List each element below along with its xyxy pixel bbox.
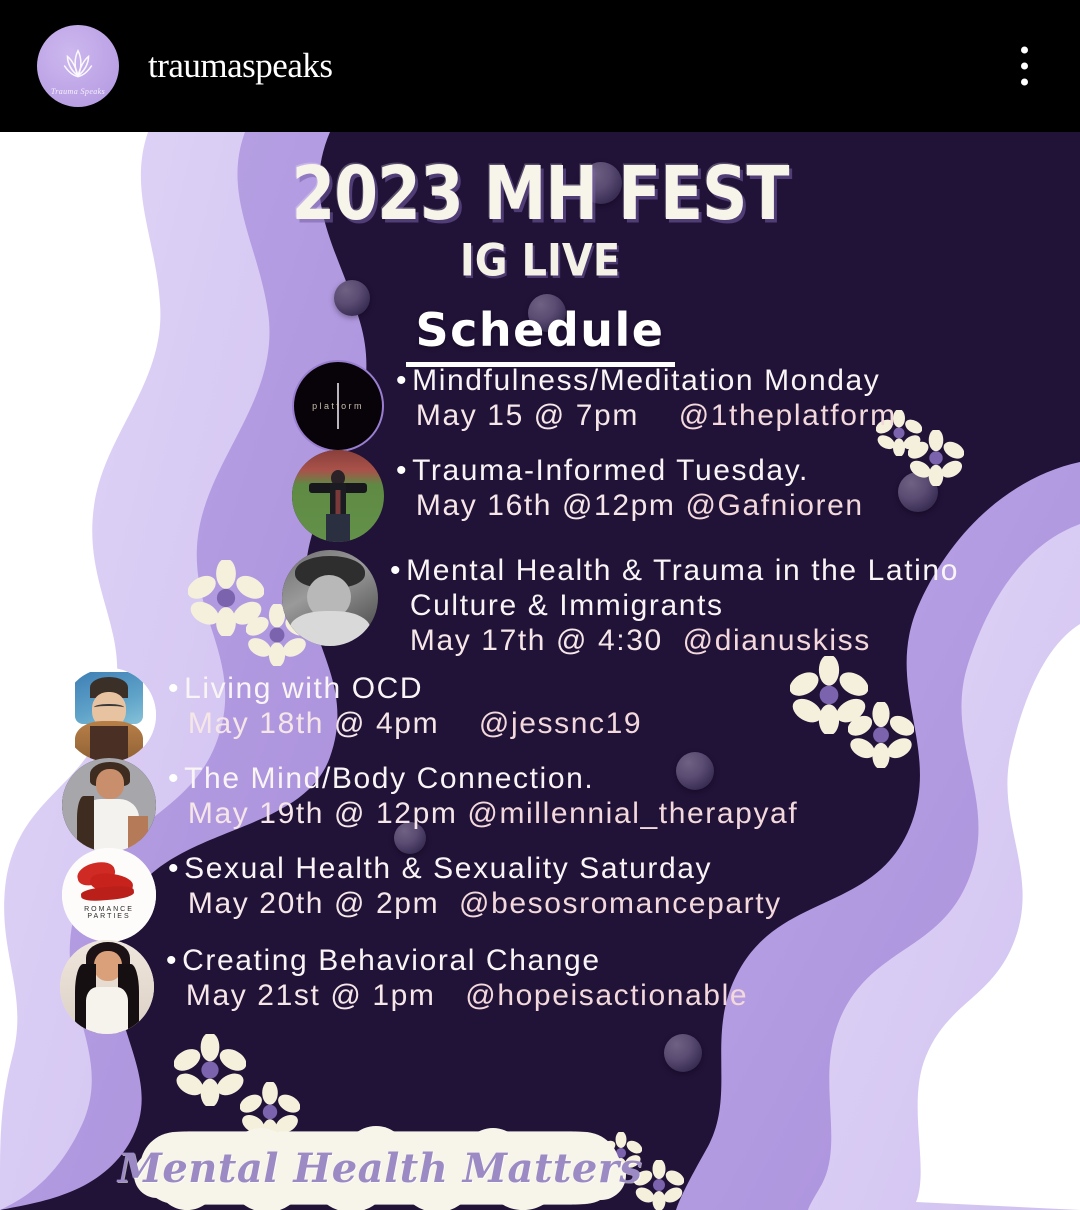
kebab-dot	[1021, 63, 1028, 70]
entry-text: •Sexual Health & Sexuality Saturday May …	[168, 848, 782, 922]
entry-text: •Mental Health & Trauma in the Latino Cu…	[390, 550, 959, 658]
list-item[interactable]: •The Mind/Body Connection. May 19th @ 12…	[62, 758, 798, 852]
entry-handle: @besosromanceparty	[459, 887, 782, 920]
bullet-icon: •	[166, 944, 178, 977]
entry-title: •Creating Behavioral Change	[166, 944, 748, 979]
entry-title: •Mental Health & Trauma in the Latino	[390, 554, 959, 589]
avatar[interactable]	[62, 668, 156, 762]
kebab-menu-icon[interactable]	[1015, 41, 1034, 92]
entry-date: May 19th @ 12pm @millennial_therapyaf	[168, 797, 798, 832]
list-item[interactable]: platform •Mindfulness/Meditation Monday …	[292, 360, 897, 452]
list-item[interactable]: •Mental Health & Trauma in the Latino Cu…	[282, 550, 959, 658]
avatar-monogram: Trauma Speaks	[37, 87, 119, 96]
bullet-icon: •	[396, 454, 408, 487]
entry-handle: @jessnc19	[479, 707, 642, 740]
avatar[interactable]: ROMANCE PARTIES	[62, 848, 156, 942]
entry-text: •The Mind/Body Connection. May 19th @ 12…	[168, 758, 798, 832]
entry-text: •Living with OCD May 18th @ 4pm @jessnc1…	[168, 668, 642, 742]
entry-title: •Mindfulness/Meditation Monday	[396, 364, 897, 399]
entry-handle: @millennial_therapyaf	[467, 797, 798, 830]
entry-handle: @Gafnioren	[685, 489, 863, 522]
poster-image: 2023 MH FEST IG LIVE Schedule platform •…	[0, 132, 1080, 1210]
entry-title: •Sexual Health & Sexuality Saturday	[168, 852, 782, 887]
list-item[interactable]: ROMANCE PARTIES •Sexual Health & Sexuali…	[62, 848, 782, 942]
lotus-logo-icon	[55, 43, 101, 89]
entry-date: May 18th @ 4pm @jessnc19	[168, 707, 642, 742]
bullet-icon: •	[396, 364, 408, 397]
entry-title: •The Mind/Body Connection.	[168, 762, 798, 797]
list-item[interactable]: •Living with OCD May 18th @ 4pm @jessnc1…	[62, 668, 642, 762]
bullet-icon: •	[168, 852, 180, 885]
kebab-dot	[1021, 47, 1028, 54]
entry-date: May 20th @ 2pm @besosromanceparty	[168, 887, 782, 922]
entry-date: May 15 @ 7pm @1theplatform	[396, 399, 897, 434]
entry-title: •Living with OCD	[168, 672, 642, 707]
bullet-icon: •	[168, 672, 180, 705]
avatar-label: platform	[312, 401, 364, 411]
entry-text: •Trauma-Informed Tuesday. May 16th @12pm…	[396, 450, 864, 524]
bullet-icon: •	[390, 554, 402, 587]
kebab-dot	[1021, 79, 1028, 86]
list-item[interactable]: •Trauma-Informed Tuesday. May 16th @12pm…	[292, 450, 864, 542]
entry-text: •Creating Behavioral Change May 21st @ 1…	[166, 940, 748, 1014]
avatar[interactable]	[282, 550, 378, 646]
entry-handle: @dianuskiss	[683, 624, 871, 657]
avatar-label: ROMANCE PARTIES	[62, 906, 156, 920]
entry-date: May 21st @ 1pm @hopeisactionable	[166, 979, 748, 1014]
entry-title-2: Culture & Immigrants	[390, 589, 959, 624]
instagram-header-bar: Trauma Speaks traumaspeaks	[0, 0, 1080, 132]
entry-handle: @1theplatform	[679, 399, 897, 432]
schedule-list: platform •Mindfulness/Meditation Monday …	[0, 132, 1080, 1210]
entry-date: May 16th @12pm @Gafnioren	[396, 489, 864, 524]
entry-title: •Trauma-Informed Tuesday.	[396, 454, 864, 489]
profile-avatar[interactable]: Trauma Speaks	[37, 25, 119, 107]
bullet-icon: •	[168, 762, 180, 795]
entry-date: May 17th @ 4:30 @dianuskiss	[390, 624, 959, 659]
entry-text: •Mindfulness/Meditation Monday May 15 @ …	[396, 360, 897, 434]
avatar[interactable]: platform	[292, 360, 384, 452]
avatar[interactable]	[60, 940, 154, 1034]
mental-health-matters-banner: Mental Health Matters	[140, 1132, 620, 1204]
banner-text: Mental Health Matters	[140, 1132, 620, 1204]
avatar[interactable]	[62, 758, 156, 852]
profile-username[interactable]: traumaspeaks	[148, 46, 332, 86]
avatar[interactable]	[292, 450, 384, 542]
entry-handle: @hopeisactionable	[465, 979, 748, 1012]
list-item[interactable]: •Creating Behavioral Change May 21st @ 1…	[60, 940, 748, 1034]
